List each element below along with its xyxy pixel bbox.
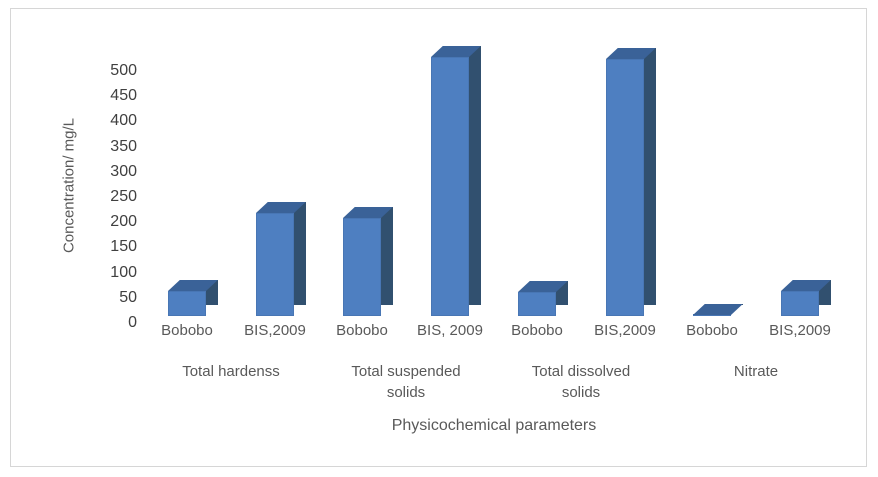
y-axis-tick-label: 250 — [89, 190, 137, 204]
x-axis-category-label-line: Nitrate — [671, 361, 841, 382]
y-axis-title: Concentration/ mg/L — [61, 76, 78, 296]
bar — [518, 292, 556, 316]
bar — [431, 57, 469, 316]
y-axis-tick-label: 350 — [89, 140, 137, 154]
x-axis-title: Physicochemical parameters — [144, 417, 844, 435]
x-axis-category-label-line: Total suspended — [321, 361, 491, 382]
x-axis-category-label-line: Total dissolved — [496, 361, 666, 382]
x-axis-category-label-line: solids — [496, 382, 666, 403]
x-axis-category-label: Nitrate — [671, 361, 841, 382]
bar — [343, 218, 381, 316]
bar-top-face — [693, 304, 743, 315]
y-axis-tick-label: 400 — [89, 114, 137, 128]
bar — [693, 315, 731, 316]
bar — [168, 291, 206, 316]
x-axis-series-label: BIS,2009 — [752, 322, 848, 339]
y-axis-tick-label: 450 — [89, 89, 137, 103]
x-axis-category-label: Total suspendedsolids — [321, 361, 491, 403]
bar-front-face — [343, 218, 381, 316]
x-axis-category-label: Total dissolvedsolids — [496, 361, 666, 403]
x-axis-series-label: BIS, 2009 — [402, 322, 498, 339]
x-axis-series-label: Bobobo — [489, 322, 585, 339]
bar-front-face — [518, 292, 556, 316]
x-axis-category-labels: Total hardenssTotal suspendedsolidsTotal… — [144, 361, 844, 411]
bar-side-face — [381, 207, 393, 305]
x-axis-category-label-line: Total hardenss — [146, 361, 316, 382]
bar-side-face — [294, 202, 306, 305]
bar-side-face — [644, 48, 656, 305]
x-axis-series-label: BIS,2009 — [577, 322, 673, 339]
x-axis-series-label: Bobobo — [314, 322, 410, 339]
y-axis-tick-labels: 500450400350300250200150100500 — [89, 49, 137, 329]
x-axis-category-label: Total hardenss — [146, 361, 316, 382]
bar-front-face — [168, 291, 206, 316]
bar-front-face — [431, 57, 469, 316]
bar — [781, 291, 819, 316]
bar — [606, 59, 644, 316]
x-axis-series-labels: BoboboBIS,2009BoboboBIS, 2009BoboboBIS,2… — [144, 322, 844, 348]
bar-front-face — [781, 291, 819, 316]
y-axis-tick-label: 0 — [89, 316, 137, 330]
plot-area — [144, 34, 844, 316]
bar — [256, 213, 294, 316]
x-axis-category-label-line: solids — [321, 382, 491, 403]
y-axis-tick-label: 500 — [89, 64, 137, 78]
y-axis-tick-label: 50 — [89, 291, 137, 305]
x-axis-series-label: Bobobo — [139, 322, 235, 339]
y-axis-tick-label: 150 — [89, 240, 137, 254]
bar-side-face — [469, 46, 481, 305]
y-axis-tick-label: 300 — [89, 165, 137, 179]
chart-frame: Concentration/ mg/L 50045040035030025020… — [10, 8, 867, 467]
bar-front-face — [606, 59, 644, 316]
y-axis-tick-label: 200 — [89, 215, 137, 229]
x-axis-series-label: BIS,2009 — [227, 322, 323, 339]
x-axis-series-label: Bobobo — [664, 322, 760, 339]
y-axis-tick-label: 100 — [89, 266, 137, 280]
bar-front-face — [256, 213, 294, 316]
